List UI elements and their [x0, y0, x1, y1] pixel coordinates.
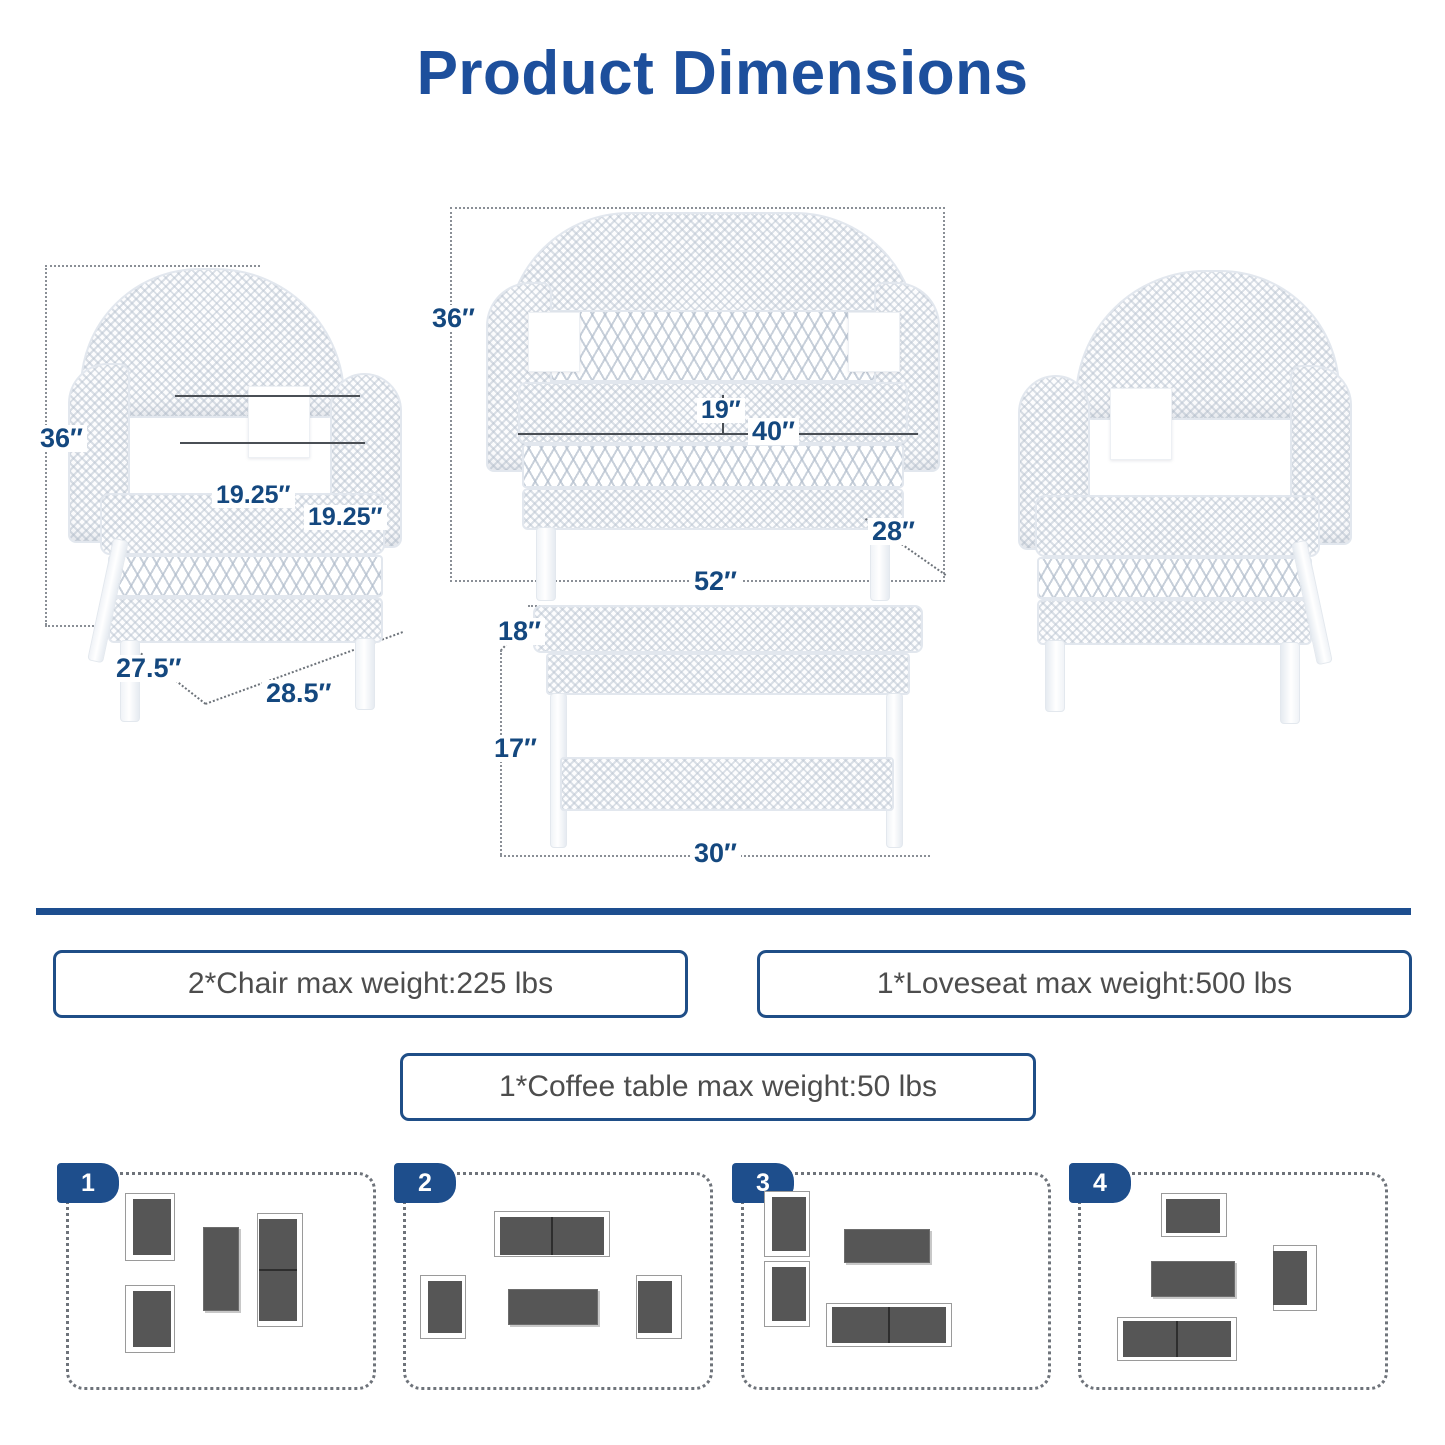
- loveseat-skirt-lattice: [522, 444, 904, 488]
- chair-seat-width-line: [175, 395, 360, 397]
- table-depth-label: 18″: [494, 618, 545, 645]
- loveseat-seat-width-label: 40″: [748, 418, 799, 445]
- weight-limit-loveseat-label: 1*Loveseat max weight:500 lbs: [877, 967, 1292, 1001]
- weight-limit-coffee-table: 1*Coffee table max weight:50 lbs: [400, 1053, 1036, 1121]
- table-top: [533, 605, 923, 653]
- weight-limit-chair-label: 2*Chair max weight:225 lbs: [188, 967, 553, 1001]
- page-title: Product Dimensions: [0, 38, 1445, 109]
- layout-option-1[interactable]: 1: [66, 1172, 376, 1390]
- chair-skirt-lattice: [108, 555, 383, 597]
- chair2-skirt-lattice: [1037, 557, 1312, 599]
- coffee-table-icon-3: [844, 1229, 930, 1263]
- chair2-front-left-leg: [1280, 642, 1300, 724]
- loveseat-back-lattice: [538, 310, 888, 382]
- weight-limit-coffee-table-label: 1*Coffee table max weight:50 lbs: [499, 1070, 937, 1104]
- table-width-label: 30″: [690, 840, 741, 867]
- section-divider: [36, 908, 1411, 915]
- coffee-table-icon-4: [1151, 1261, 1235, 1297]
- loveseat-icon-2: [494, 1211, 610, 1257]
- chair2-base: [1037, 599, 1312, 645]
- chair-seat-depth-label: 19.25″: [212, 483, 295, 508]
- layout-number-badge-1: 1: [57, 1163, 119, 1203]
- layout-number-badge-4: 4: [1069, 1163, 1131, 1203]
- chair-icon-3b: [764, 1261, 810, 1327]
- loveseat-icon-1: [257, 1213, 303, 1327]
- chair-base: [108, 597, 383, 643]
- loveseat-seat-height-label: 19″: [697, 398, 745, 423]
- chair-icon-4b: [1273, 1245, 1317, 1311]
- chair-seat-width-label: 19.25″: [304, 505, 387, 530]
- layout-number-badge-2: 2: [394, 1163, 456, 1203]
- coffee-table-icon-1: [203, 1227, 239, 1311]
- loveseat-left-pillow: [528, 312, 580, 372]
- loveseat-height-label: 36″: [428, 305, 479, 332]
- chair-icon-1a: [125, 1193, 175, 1261]
- layout-option-2[interactable]: 2: [403, 1172, 713, 1390]
- weight-limit-loveseat: 1*Loveseat max weight:500 lbs: [757, 950, 1412, 1018]
- loveseat-seat-width-line: [518, 433, 918, 435]
- coffee-table-icon-2: [508, 1289, 598, 1325]
- chair2-seat: [1035, 495, 1320, 557]
- table-height-label: 17″: [490, 735, 541, 762]
- layout-option-4[interactable]: 4: [1078, 1172, 1388, 1390]
- chair-icon-2a: [420, 1275, 466, 1339]
- loveseat-icon-4: [1117, 1317, 1237, 1361]
- weight-limit-chair: 2*Chair max weight:225 lbs: [53, 950, 688, 1018]
- table-apron: [546, 653, 910, 695]
- chair-icon-2b: [636, 1275, 682, 1339]
- chair-width-label: 28.5″: [262, 680, 335, 707]
- layout-option-3[interactable]: 3: [741, 1172, 1051, 1390]
- chair-guide-top: [45, 265, 260, 267]
- loveseat-base: [522, 488, 904, 530]
- loveseat-icon-3: [826, 1303, 952, 1347]
- chair2-front-right-leg: [1045, 640, 1065, 712]
- chair-seat-depth-line: [180, 442, 365, 444]
- loveseat-right-pillow: [848, 312, 900, 372]
- chair2-cushion-pillow: [1110, 388, 1172, 460]
- loveseat-front-left-leg: [536, 527, 556, 601]
- chair-icon-1b: [125, 1285, 175, 1353]
- chair-front-right-leg: [355, 638, 375, 710]
- chair-illustration-mirrored: [1010, 260, 1370, 680]
- table-lower-shelf: [560, 757, 894, 811]
- chair-depth-label: 27.5″: [112, 655, 185, 682]
- chair-height-label: 36″: [36, 425, 87, 452]
- loveseat-width-label: 52″: [690, 568, 741, 595]
- dimensions-diagram: 36″ 19.25″ 19.25″ 27.5″ 28.5″ 36″ 19″ 40…: [0, 150, 1445, 890]
- loveseat-depth-label: 28″: [868, 518, 919, 545]
- chair-icon-3a: [764, 1191, 810, 1257]
- chair-icon-4a: [1161, 1193, 1227, 1237]
